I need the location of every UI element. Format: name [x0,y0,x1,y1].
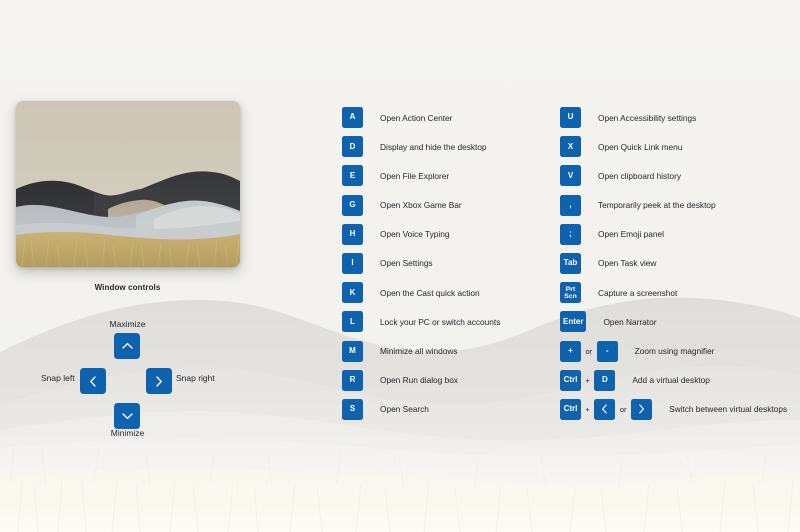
shortcut-description: Open Action Center [380,113,452,123]
key-v[interactable]: V [560,165,581,186]
key-chevron-left-icon[interactable] [594,399,615,420]
shortcut-description: Open Emoji panel [598,229,664,239]
key-u[interactable]: U [560,107,581,128]
key-tab[interactable]: Tab [560,253,581,274]
shortcut-description: Lock your PC or switch accounts [380,317,500,327]
key-s[interactable]: S [342,399,363,420]
key-h[interactable]: H [342,224,363,245]
key-e[interactable]: E [342,165,363,186]
shortcut-description: Open File Explorer [380,171,449,181]
shortcut-row: HOpen Voice Typing [342,224,500,245]
shortcut-row: VOpen clipboard history [560,165,787,186]
shortcut-description: Minimize all windows [380,346,457,356]
shortcut-row: UOpen Accessibility settings [560,107,787,128]
shortcut-description: Open Xbox Game Bar [380,200,462,210]
key-ctrl[interactable]: Ctrl [560,399,581,420]
chevron-left-icon [89,376,97,387]
chevron-left-icon [601,404,608,414]
shortcut-row: Ctrl+orSwitch between virtual desktops [560,399,787,420]
chevron-right-icon [155,376,163,387]
chevron-down-icon [122,412,133,420]
shortcut-description: Open Run dialog box [380,375,458,385]
key-d[interactable]: D [342,136,363,157]
shortcut-row: ;Open Emoji panel [560,224,787,245]
key-enter[interactable]: Enter [560,311,586,332]
key-a[interactable]: A [342,107,363,128]
shortcut-row: TabOpen Task view [560,253,787,274]
shortcut-description: Temporarily peek at the desktop [598,200,716,210]
shortcut-row: Ctrl+DAdd a virtual desktop [560,370,787,391]
shortcut-row: EOpen File Explorer [342,165,500,186]
shortcut-description: Open Accessibility settings [598,113,696,123]
shortcut-description: Capture a screenshot [598,288,677,298]
shortcut-description: Add a virtual desktop [632,375,709,385]
shortcut-row: EnterOpen Narrator [560,311,787,332]
key-m[interactable]: M [342,341,363,362]
key-x[interactable]: X [560,136,581,157]
wallpaper-thumbnail [16,101,240,267]
key-l[interactable]: L [342,311,363,332]
key-joiner-or: or [615,405,631,414]
wallpaper-image [16,101,240,267]
shortcut-description: Open Settings [380,258,433,268]
key-g[interactable]: G [342,195,363,216]
key-i[interactable]: I [342,253,363,274]
shortcut-row: GOpen Xbox Game Bar [342,195,500,216]
key-arrow-up[interactable] [114,333,140,359]
key-arrow-right[interactable] [146,368,172,394]
shortcut-description: Open the Cast quick action [380,288,480,298]
minimize-label: Minimize [0,428,255,438]
key-;[interactable]: ; [560,224,581,245]
shortcut-row: IOpen Settings [342,253,500,274]
key-r[interactable]: R [342,370,363,391]
shortcut-row: +or-Zoom using magnifier [560,341,787,362]
key-joiner-plus: + [581,405,594,414]
key-ctrl[interactable]: Ctrl [560,370,581,391]
shortcut-description: Display and hide the desktop [380,142,487,152]
shortcut-row: AOpen Action Center [342,107,500,128]
shortcut-row: KOpen the Cast quick action [342,282,500,303]
shortcuts-column-right: UOpen Accessibility settingsXOpen Quick … [560,107,787,428]
snap-right-label: Snap right [176,373,215,383]
shortcut-row: ROpen Run dialog box [342,370,500,391]
shortcut-row: MMinimize all windows [342,341,500,362]
chevron-right-icon [638,404,645,414]
key-arrow-down[interactable] [114,403,140,429]
key-k[interactable]: K [342,282,363,303]
key-prt-scn[interactable]: Prt Scn [560,282,581,303]
shortcut-description: Zoom using magnifier [635,346,715,356]
shortcut-row: DDisplay and hide the desktop [342,136,500,157]
shortcut-row: LLock your PC or switch accounts [342,311,500,332]
key-joiner-plus: + [581,376,594,385]
shortcut-description: Open Search [380,404,429,414]
key-d[interactable]: D [594,370,615,391]
key-,[interactable]: , [560,195,581,216]
window-controls-diagram: Window controls Maximize Snap left Snap … [0,283,255,438]
shortcut-row: XOpen Quick Link menu [560,136,787,157]
snap-left-label: Snap left [41,373,75,383]
chevron-up-icon [122,342,133,350]
key-arrow-left[interactable] [80,368,106,394]
shortcut-row: ,Temporarily peek at the desktop [560,195,787,216]
shortcut-description: Open Quick Link menu [598,142,682,152]
shortcut-description: Switch between virtual desktops [669,404,787,414]
maximize-label: Maximize [0,319,255,329]
shortcuts-column-left: AOpen Action CenterDDisplay and hide the… [342,107,500,428]
window-controls-caption: Window controls [0,283,255,292]
key-chevron-right-icon[interactable] [631,399,652,420]
shortcut-description: Open Task view [598,258,656,268]
shortcut-description: Open Voice Typing [380,229,450,239]
shortcut-description: Open Narrator [603,317,656,327]
shortcut-description: Open clipboard history [598,171,681,181]
key--[interactable]: - [597,341,618,362]
key-joiner-or: or [581,347,597,356]
shortcut-row: SOpen Search [342,399,500,420]
shortcut-row: Prt ScnCapture a screenshot [560,282,787,303]
key-+[interactable]: + [560,341,581,362]
